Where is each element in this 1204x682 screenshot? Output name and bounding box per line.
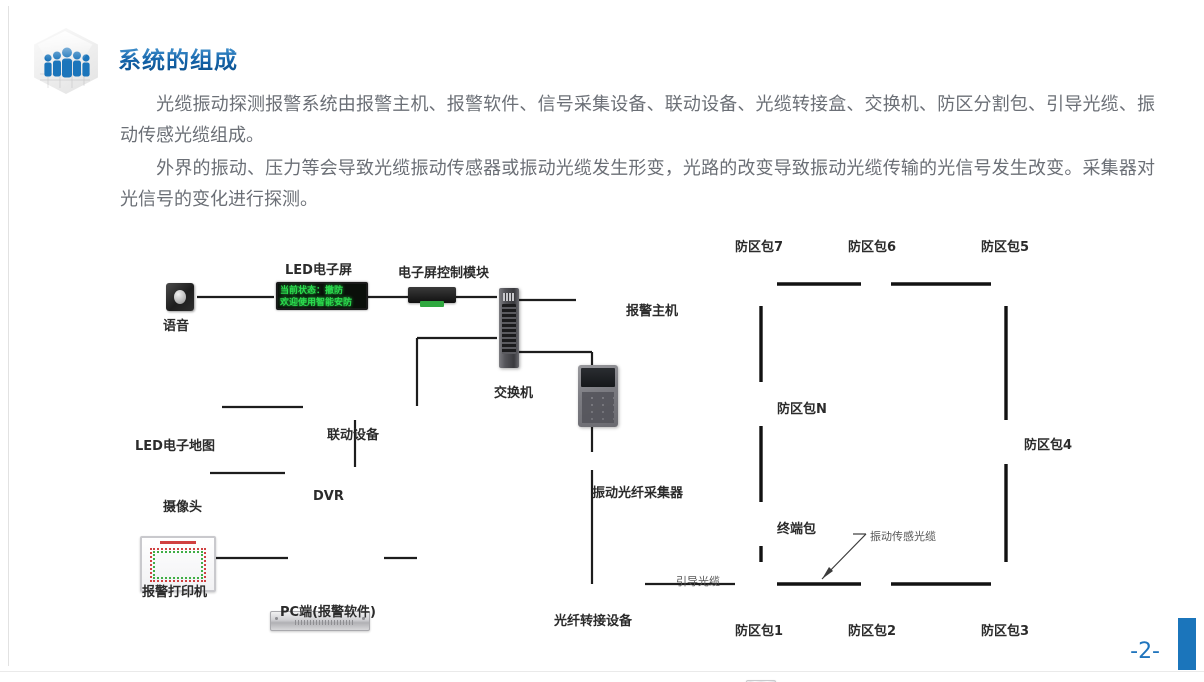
- zone-label-zone3: 防区包3: [981, 620, 1029, 639]
- device-led-control-module[interactable]: [408, 287, 456, 303]
- zone-label-zoneN: 防区包N: [777, 398, 827, 417]
- device-label-switch: 交换机: [494, 382, 533, 401]
- cable-label-lead-cable: 引导光缆: [676, 573, 720, 589]
- zone-label-zone1: 防区包1: [735, 620, 783, 639]
- page-title: 系统的组成: [118, 41, 238, 75]
- zone-label-zone6: 防区包6: [848, 236, 896, 255]
- people-group-hexagon-icon: [26, 26, 112, 96]
- device-label-led-map: LED电子地图: [135, 435, 215, 454]
- device-label-fiber-patch: 光纤转接设备: [554, 610, 632, 629]
- device-label-led-control: 电子屏控制模块: [398, 262, 489, 281]
- zone-label-zone4: 防区包4: [1024, 434, 1072, 453]
- paragraph-1: 光缆振动探测报警系统由报警主机、报警软件、信号采集设备、联动设备、光缆转接盒、交…: [120, 89, 1155, 151]
- zone-label-zone2: 防区包2: [848, 620, 896, 639]
- system-architecture-diagram: 语音 LED电子屏 当前状态：撤防 欢迎使用智能安防 电子屏控制模块 交换机 报…: [0, 230, 1204, 650]
- slide-page: 系统的组成 光缆振动探测报警系统由报警主机、报警软件、信号采集设备、联动设备、光…: [0, 0, 1204, 682]
- paragraph-1-text: 光缆振动探测报警系统由报警主机、报警软件、信号采集设备、联动设备、光缆转接盒、交…: [120, 94, 1155, 146]
- accent-bar: [1178, 618, 1196, 670]
- device-label-voice: 语音: [163, 315, 189, 334]
- device-alarm-host[interactable]: [578, 365, 618, 427]
- led-screen-title: LED电子屏: [285, 259, 352, 278]
- cable-label-sensing-cable: 振动传感光缆: [870, 528, 936, 544]
- led-screen-line-1: 当前状态：撤防: [280, 285, 364, 297]
- device-label-collector: 振动光纤采集器: [592, 482, 683, 501]
- paragraph-2: 外界的振动、压力等会导致光缆振动传感器或振动光缆发生形变，光路的改变导致振动光缆…: [120, 153, 1155, 215]
- bottom-border-rule: [0, 671, 1204, 672]
- device-label-camera: 摄像头: [163, 496, 202, 515]
- device-label-pc: PC端(报警软件): [280, 601, 376, 620]
- led-display-screen[interactable]: 当前状态：撤防 欢迎使用智能安防: [276, 282, 368, 310]
- device-label-alarm-host: 报警主机: [626, 300, 678, 319]
- zone-label-zone5: 防区包5: [981, 236, 1029, 255]
- zone-label-terminal: 终端包: [777, 518, 816, 537]
- page-number: -2-: [1130, 639, 1160, 664]
- device-network-switch[interactable]: [499, 288, 519, 368]
- zone-label-zone7: 防区包7: [735, 236, 783, 255]
- device-voice-speaker[interactable]: [166, 283, 194, 311]
- device-label-linkage: 联动设备: [327, 424, 379, 443]
- led-screen-line-2: 欢迎使用智能安防: [280, 297, 364, 309]
- device-label-printer: 报警打印机: [142, 581, 207, 600]
- paragraph-2-text: 外界的振动、压力等会导致光缆振动传感器或振动光缆发生形变，光路的改变导致振动光缆…: [120, 158, 1155, 210]
- device-label-dvr: DVR: [313, 489, 344, 504]
